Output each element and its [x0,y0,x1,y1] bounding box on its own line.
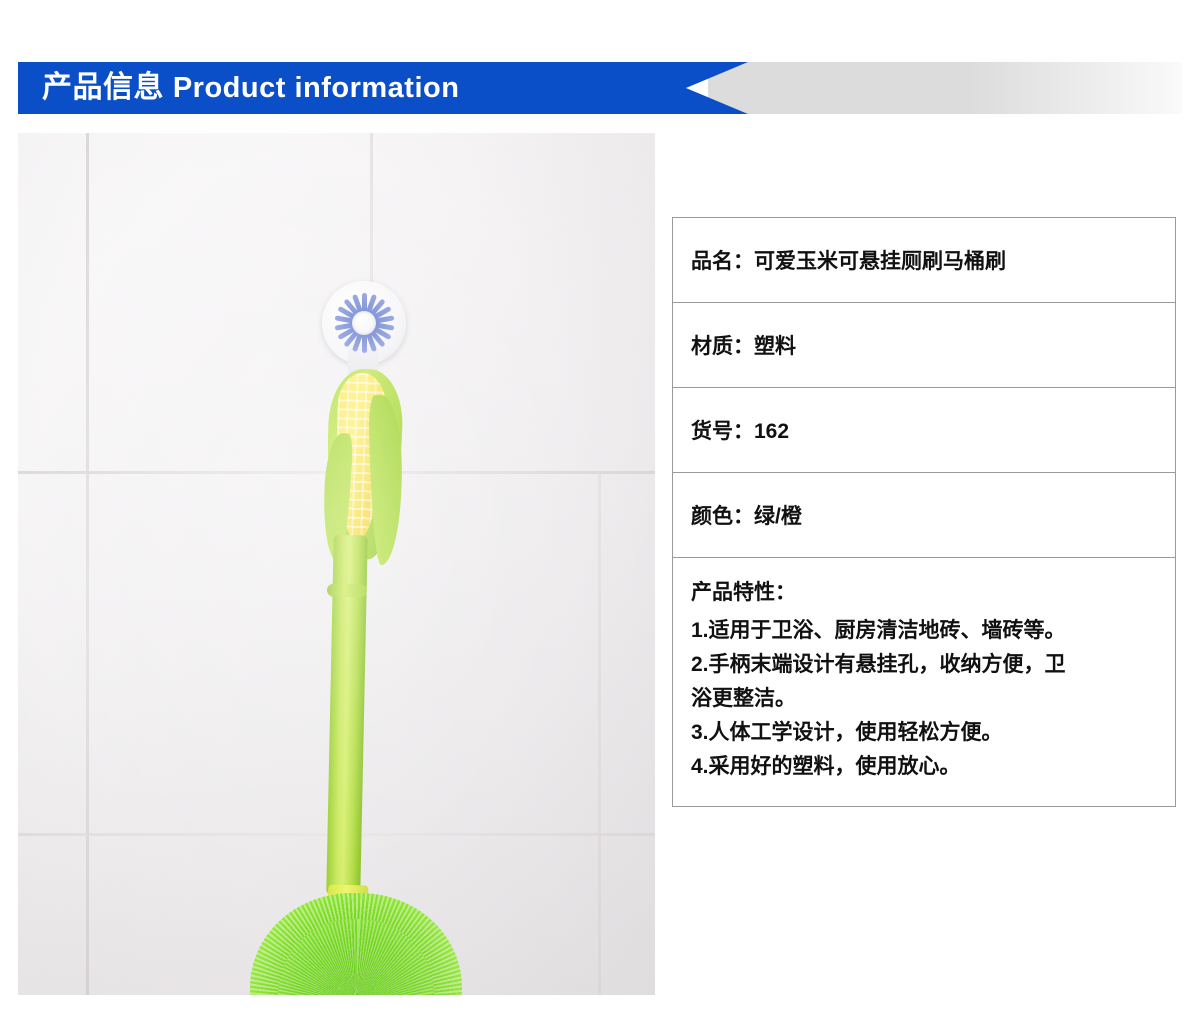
spec-value: 162 [754,420,789,443]
page-title: 产品信息 Product information [42,62,459,114]
table-row-features: 产品特性： 1.适用于卫浴、厨房清洁地砖、墙砖等。 2.手柄末端设计有悬挂孔，收… [673,558,1176,807]
feature-line: 1.适用于卫浴、厨房清洁地砖、墙砖等。 [691,614,1159,648]
table-row: 品名：可爱玉米可悬挂厕刷马桶刷 [673,218,1176,303]
spec-cell-material: 材质：塑料 [673,303,1176,388]
spec-value: 绿/橙 [754,505,802,528]
spec-cell-name: 品名：可爱玉米可悬挂厕刷马桶刷 [673,218,1176,303]
banner-gray-tail [708,62,1182,114]
spec-cell-color: 颜色：绿/橙 [673,473,1176,558]
spec-label: 材质： [691,335,754,358]
feature-line: 2.手柄末端设计有悬挂孔，收纳方便，卫 [691,648,1159,682]
table-row: 材质：塑料 [673,303,1176,388]
spec-value: 可爱玉米可悬挂厕刷马桶刷 [754,250,1006,273]
table-row: 颜色：绿/橙 [673,473,1176,558]
feature-line: 3.人体工学设计，使用轻松方便。 [691,716,1159,750]
feature-line: 浴更整洁。 [691,682,1159,716]
page-title-cn: 产品信息 [42,71,164,104]
table-row: 货号：162 [673,388,1176,473]
features-title: 产品特性： [691,576,1159,606]
spec-cell-features: 产品特性： 1.适用于卫浴、厨房清洁地砖、墙砖等。 2.手柄末端设计有悬挂孔，收… [673,558,1176,807]
spec-cell-item-number: 货号：162 [673,388,1176,473]
feature-line: 4.采用好的塑料，使用放心。 [691,750,1159,784]
spec-label: 品名： [691,250,754,273]
spec-label: 颜色： [691,505,754,528]
photo-vignette [18,133,655,995]
section-header-banner: 产品信息 Product information [18,62,1182,114]
spec-value: 塑料 [754,335,796,358]
product-photo [18,133,655,995]
spec-label: 货号： [691,420,754,443]
spec-table-body: 品名：可爱玉米可悬挂厕刷马桶刷 材质：塑料 货号：162 颜色：绿/橙 产品特性… [673,218,1176,807]
page-title-en: Product information [173,72,460,104]
product-spec-table: 品名：可爱玉米可悬挂厕刷马桶刷 材质：塑料 货号：162 颜色：绿/橙 产品特性… [672,217,1176,807]
